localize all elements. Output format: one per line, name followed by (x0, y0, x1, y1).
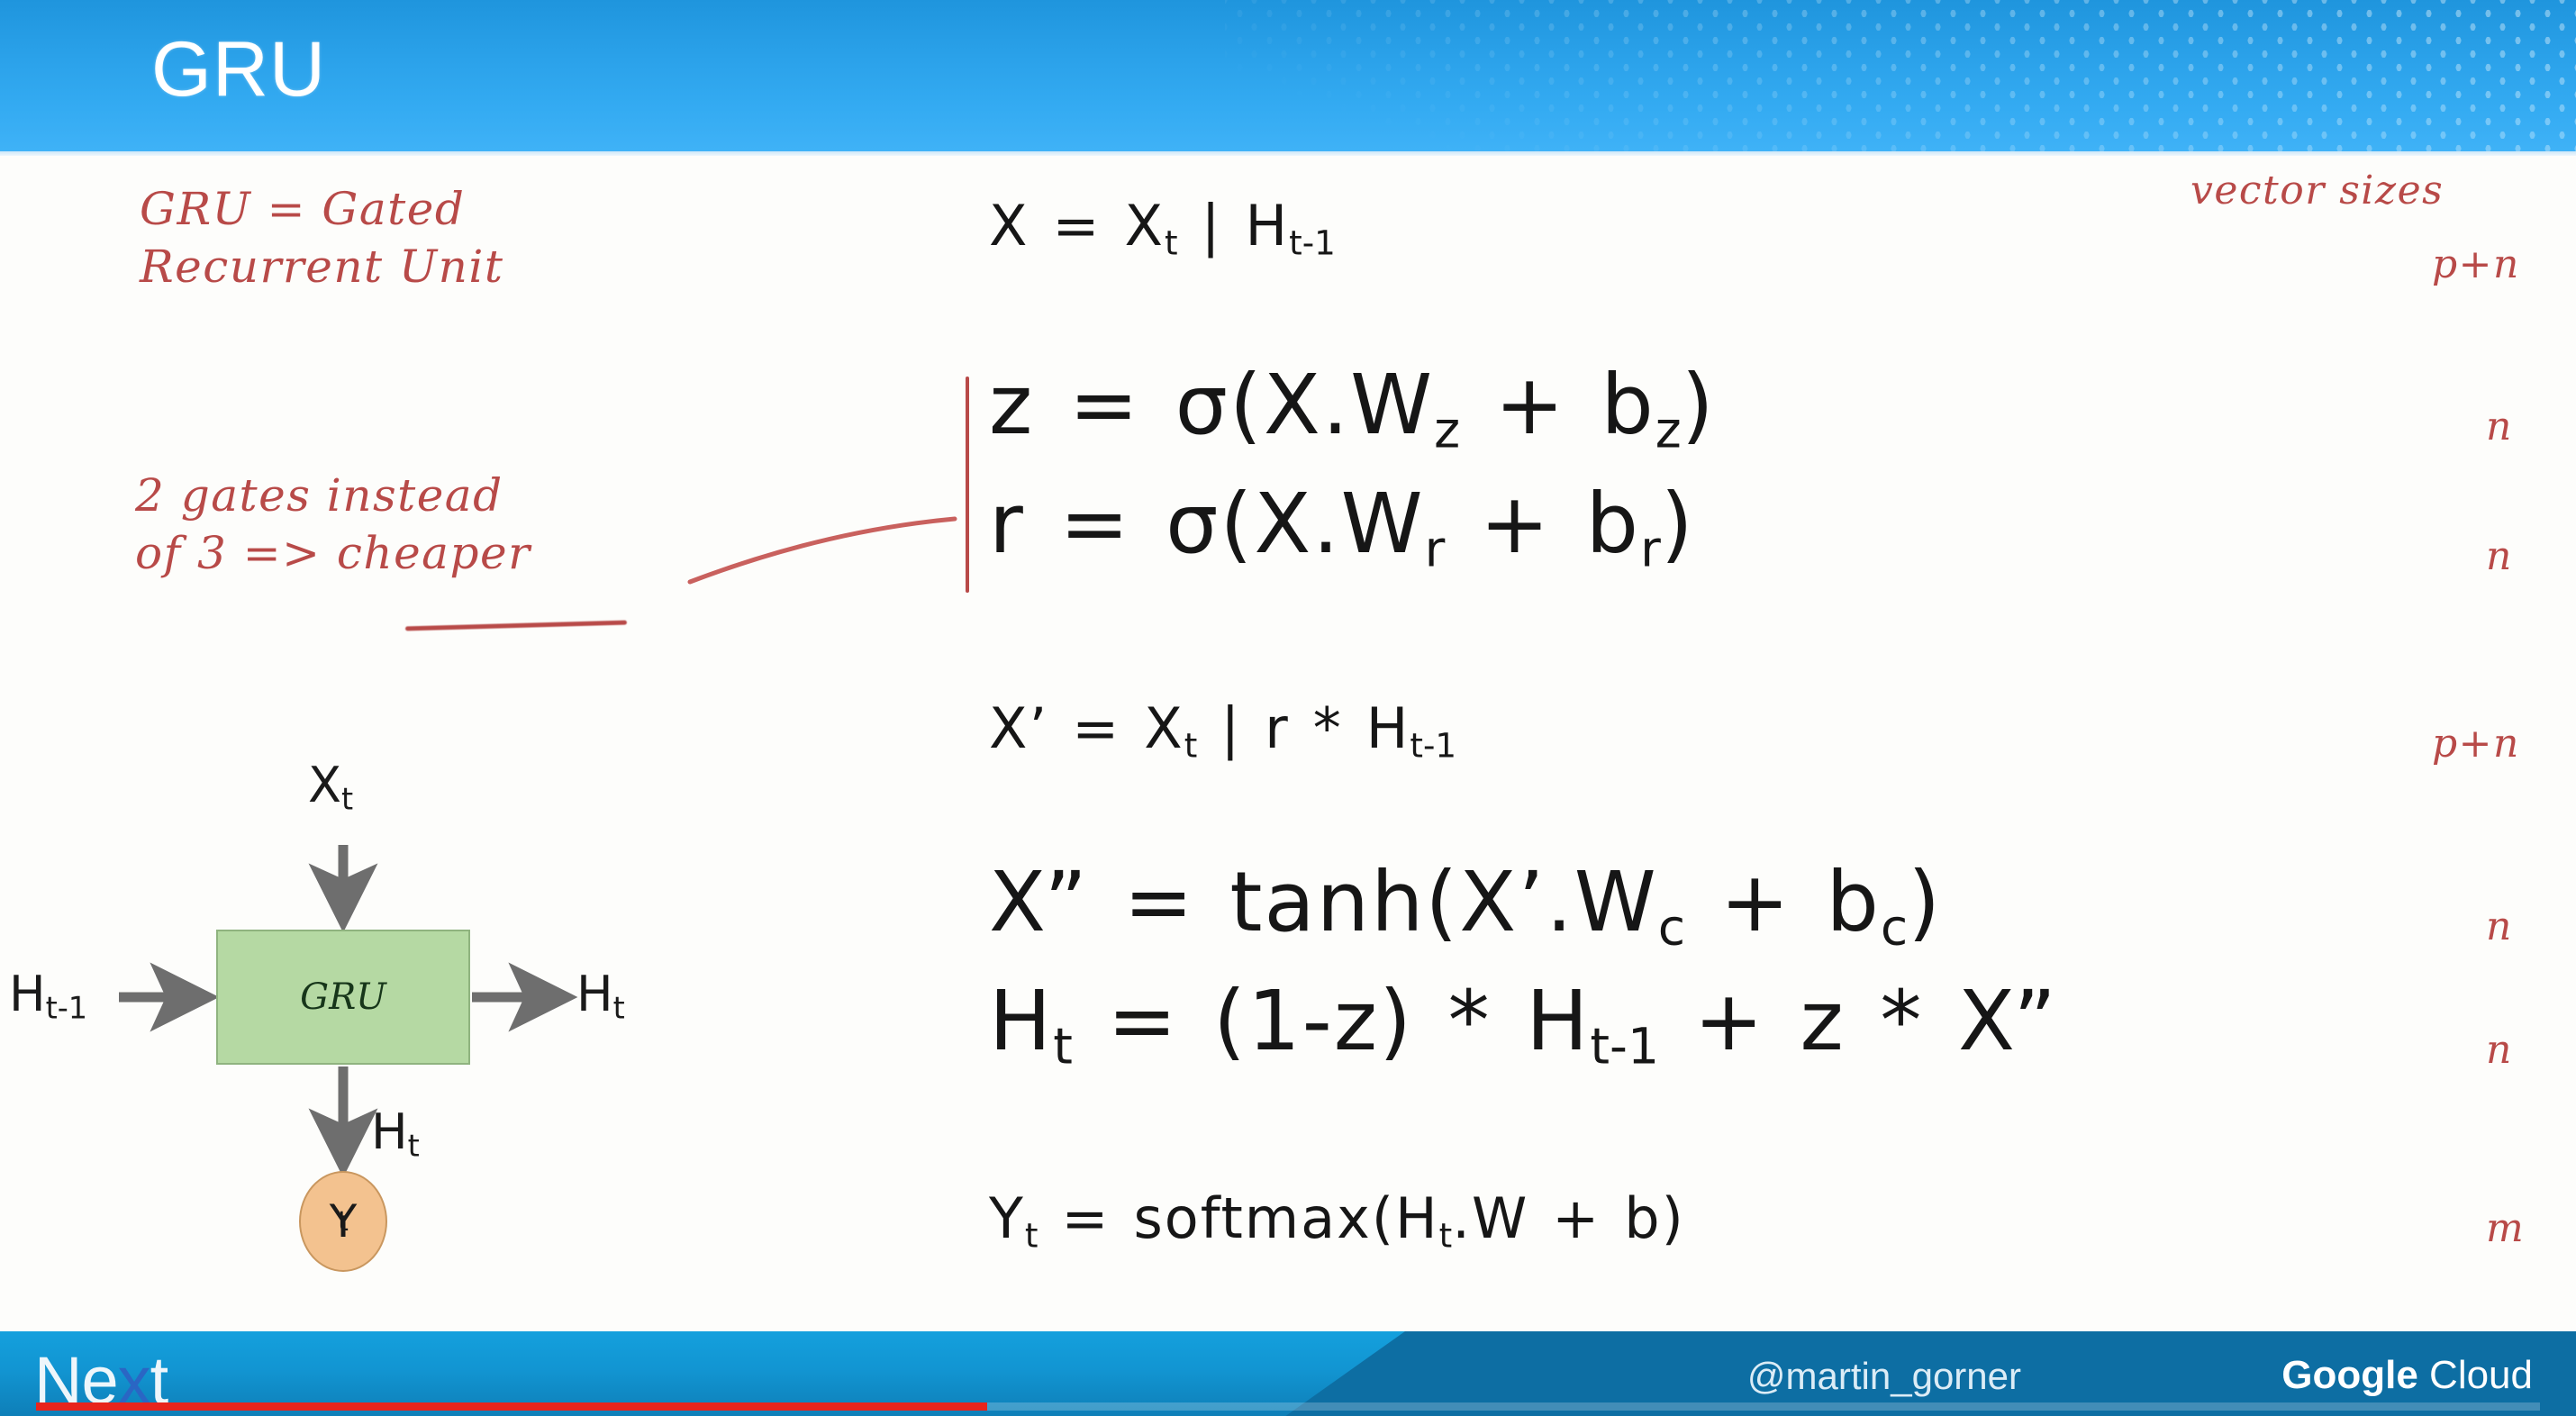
eq-yt-fn-sub: t (1439, 1215, 1453, 1255)
header-divider (0, 151, 2576, 156)
note-gru-line2: Recurrent Unit (140, 241, 503, 293)
note-gru-line1: GRU = Gated (140, 183, 465, 235)
eq-z-lhs: z (989, 357, 1034, 453)
diagram-input-sub: t (341, 782, 353, 817)
note-size-r: n (2486, 533, 2513, 579)
eq-yt-equals: = (1062, 1185, 1111, 1251)
equation-ht: Ht=(1-z)*Ht-1+z*X” (989, 973, 2058, 1076)
eq-r-bias: b (1586, 476, 1640, 572)
equation-x: X=Xt|Ht-1 (989, 193, 1336, 262)
presenter-handle: @martin_gorner (1747, 1355, 2021, 1398)
equation-r: r=σ(X.Wr+br) (989, 476, 1695, 578)
note-gates-line2: of 3 => cheaper (135, 527, 531, 579)
eq-yt-lhs: Y (989, 1185, 1025, 1251)
output-node-inner: Yt (301, 1173, 385, 1270)
eq-xp-term2: H (1366, 695, 1410, 761)
note-size-xdprime: n (2486, 903, 2513, 949)
eq-xpp-equals: = (1124, 854, 1195, 950)
eq-r-lhs: r (989, 476, 1025, 572)
eq-yt-close: ) (1662, 1185, 1685, 1251)
brand-google-text: Google (2281, 1353, 2418, 1397)
note-size-z: n (2486, 404, 2513, 449)
eq-xpp-bias: b (1826, 854, 1880, 950)
slide-footer: Next @martin_gorner Google Cloud (0, 1331, 2576, 1416)
eq-xp-star: * (1313, 695, 1343, 761)
eq-ht-hprev: H (1526, 973, 1590, 1069)
eq-xp-term2-sub: t-1 (1410, 725, 1456, 765)
eq-ht-equals: = (1107, 973, 1178, 1069)
output-node-text: Y (301, 1173, 385, 1270)
eq-z-bias: b (1601, 357, 1655, 453)
eq-yt-bias: b (1624, 1185, 1661, 1251)
page-title: GRU (151, 25, 326, 114)
eq-z-equals: = (1069, 357, 1140, 453)
equation-x-prime: X’=Xt|r*Ht-1 (989, 695, 1456, 765)
eq-x-equals: = (1053, 193, 1102, 259)
note-size-yt: m (2486, 1205, 2525, 1251)
eq-x-separator: | (1202, 193, 1222, 259)
eq-xp-equals: = (1072, 695, 1120, 761)
eq-xpp-fn-sub: c (1658, 899, 1685, 957)
eq-yt-dotw: .W (1452, 1185, 1528, 1251)
diagram-state-out-sub: t (613, 991, 625, 1026)
diagram-state-in-text: H (9, 966, 46, 1022)
diagram-state-in-sub: t-1 (46, 991, 88, 1026)
eq-ht-xdprime: X” (1958, 973, 2058, 1069)
eq-ht-hprev-sub: t-1 (1590, 1018, 1659, 1076)
gru-cell-diagram: Xt Ht-1 Ht Ht GRU Yt (0, 739, 667, 1279)
diagram-label-state-in: Ht-1 (9, 966, 87, 1026)
gru-cell-label: GRU (218, 931, 468, 1063)
eq-xp-r: r (1265, 695, 1290, 761)
output-node: Yt (299, 1171, 387, 1272)
eq-r-bias-sub: r (1640, 521, 1661, 578)
eq-xp-separator: | (1220, 695, 1241, 761)
diagram-state-down-sub: t (408, 1129, 420, 1164)
eq-x-term2-sub: t-1 (1289, 222, 1336, 262)
underline-cheaper (405, 621, 627, 631)
eq-x-term1: X (1125, 193, 1165, 259)
brand-cloud-text: Cloud (2418, 1353, 2533, 1397)
connector-line (685, 459, 973, 604)
eq-ht-star1: * (1448, 973, 1492, 1069)
eq-z-fn-sub: z (1434, 402, 1460, 459)
eq-yt-lhs-sub: t (1025, 1215, 1039, 1255)
eq-ht-z: z (1800, 973, 1845, 1069)
slide: GRU GRU = Gated Recurrent Unit 2 gates i… (0, 0, 2576, 1416)
halftone-dot-pattern-offset-icon (1225, 0, 2576, 151)
gru-cell-box: GRU (216, 930, 470, 1065)
eq-x-term2: H (1246, 193, 1290, 259)
progress-bar-fill (36, 1402, 987, 1411)
eq-r-equals: = (1059, 476, 1130, 572)
eq-ht-group: (1-z) (1213, 973, 1413, 1069)
diagram-label-state-down: Ht (371, 1103, 420, 1164)
slide-header: GRU (0, 0, 2576, 151)
eq-xp-term1-sub: t (1184, 725, 1198, 765)
progress-bar-track[interactable] (36, 1402, 2540, 1411)
note-size-ht: n (2486, 1027, 2513, 1073)
diagram-label-state-out: Ht (576, 966, 625, 1026)
diagram-state-down-text: H (371, 1103, 408, 1160)
diagram-label-input: Xt (308, 757, 353, 817)
eq-r-fn-sub: r (1425, 521, 1446, 578)
diagram-input-text: X (308, 757, 341, 813)
eq-z-close: ) (1682, 357, 1716, 453)
google-cloud-logo: Google Cloud (2281, 1353, 2533, 1398)
eq-yt-plus: + (1552, 1185, 1601, 1251)
eq-r-fn: σ(X.W (1166, 476, 1424, 572)
eq-xpp-bias-sub: c (1881, 899, 1908, 957)
note-gates-count: 2 gates instead of 3 => cheaper (135, 467, 531, 582)
eq-ht-lhs-sub: t (1053, 1018, 1073, 1076)
note-size-x: p+n (2432, 241, 2520, 287)
note-gru-definition: GRU = Gated Recurrent Unit (140, 180, 503, 295)
note-gates-line1: 2 gates instead (135, 469, 503, 522)
equation-x-double-prime: X”=tanh(X’.Wc+bc) (989, 854, 1942, 957)
eq-ht-lhs: H (989, 973, 1053, 1069)
eq-xpp-fn: tanh(X’.W (1229, 854, 1657, 950)
diagram-state-out-text: H (576, 966, 613, 1022)
equation-z: z=σ(X.Wz+bz) (989, 357, 1716, 459)
eq-r-close: ) (1661, 476, 1695, 572)
equation-yt: Yt=softmax(Ht.W+b) (989, 1185, 1685, 1255)
eq-x-lhs: X (989, 193, 1029, 259)
eq-r-plus: + (1480, 476, 1551, 572)
eq-xp-lhs: X’ (989, 695, 1048, 761)
note-size-xprime: p+n (2432, 721, 2520, 767)
eq-xpp-lhs: X” (989, 854, 1089, 950)
eq-ht-plus: + (1694, 973, 1765, 1069)
equation-group-bracket (966, 377, 969, 593)
eq-ht-star2: * (1880, 973, 1923, 1069)
eq-yt-fn: softmax(H (1133, 1185, 1438, 1251)
eq-xpp-close: ) (1908, 854, 1942, 950)
eq-xp-term1: X (1144, 695, 1184, 761)
eq-z-plus: + (1495, 357, 1566, 453)
eq-z-fn: σ(X.W (1175, 357, 1434, 453)
eq-x-term1-sub: t (1165, 222, 1178, 262)
note-vector-sizes-heading: vector sizes (2191, 168, 2444, 213)
eq-z-bias-sub: z (1655, 402, 1682, 459)
eq-xpp-plus: + (1720, 854, 1791, 950)
